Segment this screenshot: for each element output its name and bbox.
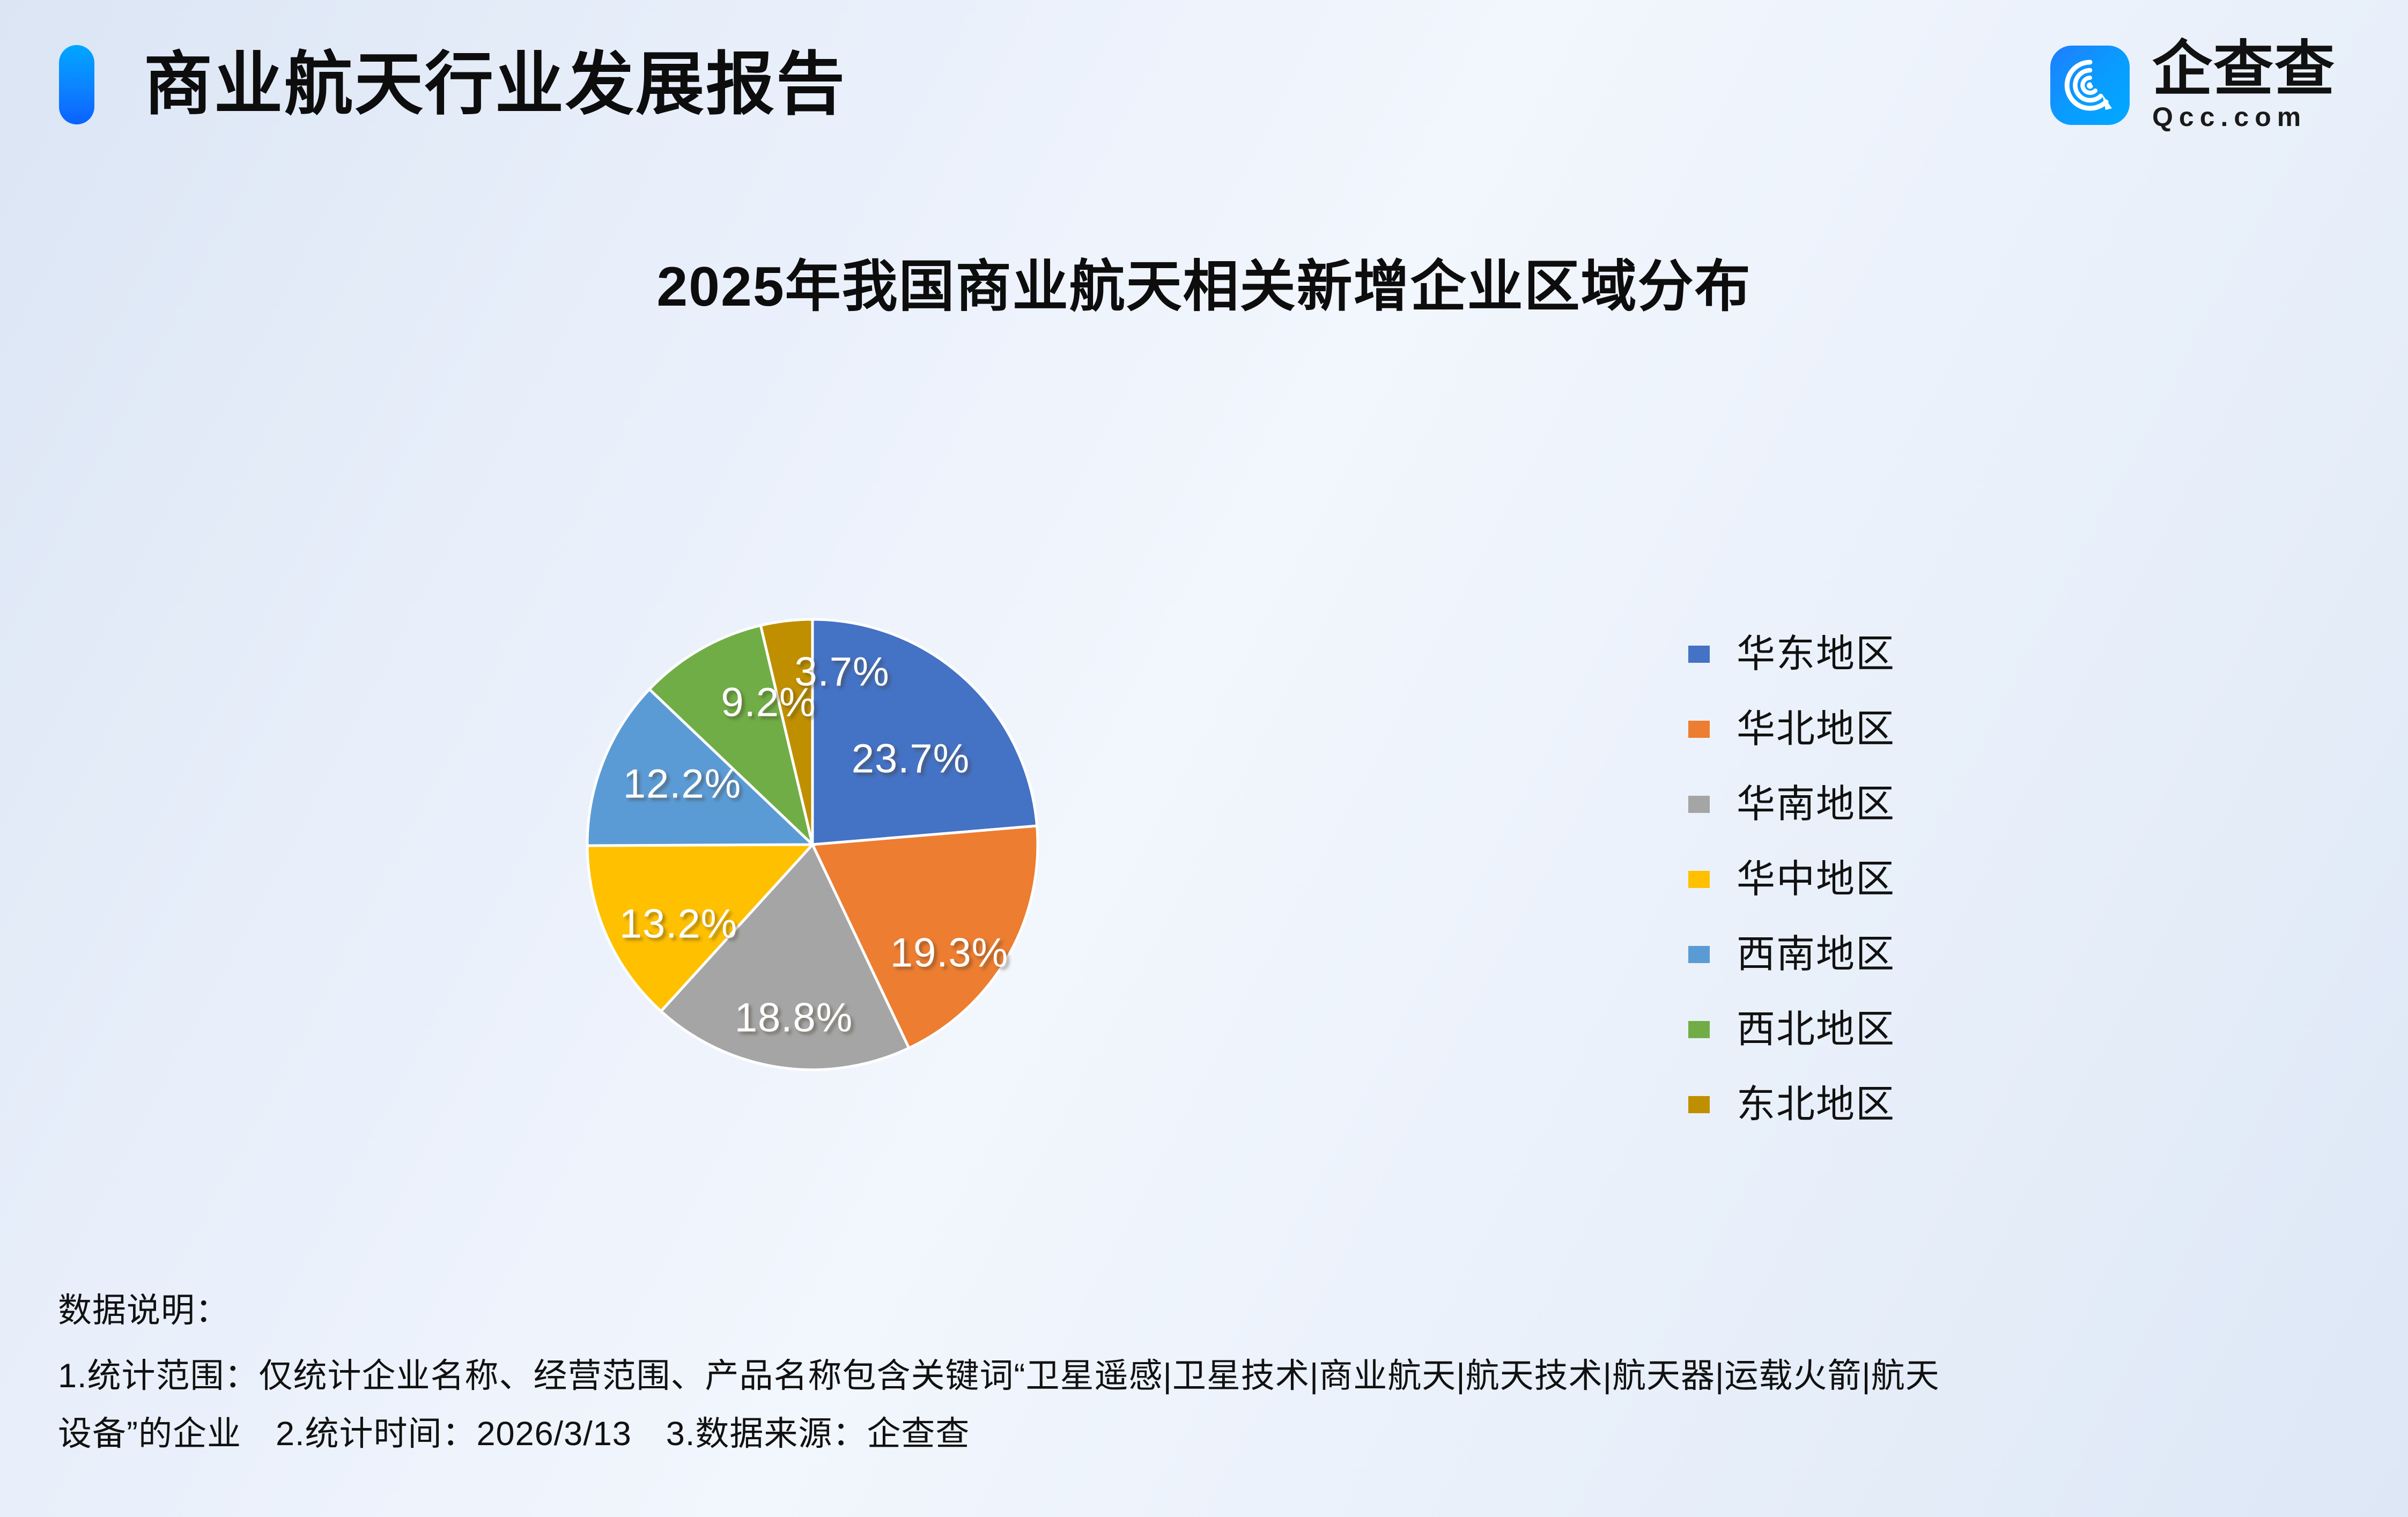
pie-slice-label: 23.7% [852,736,970,782]
legend-item[interactable]: 华东地区 [1688,617,2064,692]
pie-slice-label: 12.2% [623,761,742,808]
legend-color-swatch [1688,796,1710,813]
brand-wordmark: 企查查 Qcc.com [2152,39,2336,132]
legend-color-swatch [1688,646,1710,663]
brand-name-cn: 企查查 [2152,39,2336,100]
legend-item-label: 华北地区 [1737,708,1895,751]
legend-item-label: 西北地区 [1737,1008,1895,1051]
title-accent-bar [59,45,94,124]
chart-title: 2025年我国商业航天相关新增企业区域分布 [0,252,2408,322]
legend-item-label: 华东地区 [1737,633,1895,676]
page-header: 商业航天行业发展报告 企查查 Qcc.com [0,0,2408,204]
legend-item-label: 华南地区 [1737,783,1895,826]
legend-item[interactable]: 西北地区 [1688,992,2064,1067]
legend-item[interactable]: 华南地区 [1688,767,2064,842]
chart-legend: 华东地区华北地区华南地区华中地区西南地区西北地区东北地区 [1688,617,2064,1142]
legend-color-swatch [1688,721,1710,738]
footnote-line-2: 设备”的企业 2.统计时间：2026/3/13 3.数据来源：企查查 [58,1405,2353,1463]
pie-slice-label: 3.7% [794,649,889,695]
legend-item[interactable]: 华北地区 [1688,692,2064,767]
footnote-heading: 数据说明： [58,1282,2353,1340]
legend-color-swatch [1688,871,1710,888]
pie-slice-label: 13.2% [619,901,738,948]
legend-item-label: 东北地区 [1737,1083,1895,1126]
legend-color-swatch [1688,946,1710,963]
pie-chart: 23.7%19.3%18.8%13.2%12.2%9.2%3.7% [579,611,1046,1078]
footnotes: 数据说明： 1.统计范围：仅统计企业名称、经营范围、产品名称包含关键词“卫星遥感… [58,1282,2353,1463]
pie-slice-label: 19.3% [890,930,1009,976]
legend-item[interactable]: 东北地区 [1688,1067,2064,1142]
legend-color-swatch [1688,1021,1710,1038]
footnote-line-1: 1.统计范围：仅统计企业名称、经营范围、产品名称包含关键词“卫星遥感|卫星技术|… [58,1347,2353,1405]
legend-item-label: 西南地区 [1737,933,1895,976]
legend-color-swatch [1688,1096,1710,1113]
legend-item-label: 华中地区 [1737,858,1895,901]
pie-slice-label: 18.8% [735,995,853,1041]
brand-name-en: Qcc.com [2152,102,2336,132]
brand-logo: 企查查 Qcc.com [2050,39,2336,132]
page-title: 商业航天行业发展报告 [144,42,846,128]
qcc-spiral-logo-icon [2050,46,2130,125]
legend-item[interactable]: 西南地区 [1688,917,2064,992]
legend-item[interactable]: 华中地区 [1688,842,2064,917]
